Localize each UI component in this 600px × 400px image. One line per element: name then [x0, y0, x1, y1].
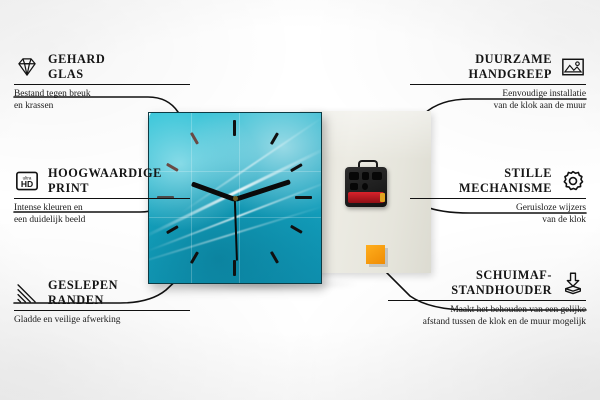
feature-title: GEHARD GLAS	[48, 52, 105, 81]
infographic-canvas: GEHARD GLAS Bestand tegen breuk en krass…	[0, 0, 600, 400]
feature-header: ultra HD HOOGWAARDIGE PRINT	[14, 166, 190, 195]
movement-detail	[362, 172, 369, 180]
feature-geslepen-randen: GESLEPEN RANDEN Gladde en veilige afwerk…	[14, 278, 190, 327]
feature-gehard-glas: GEHARD GLAS Bestand tegen breuk en krass…	[14, 52, 190, 112]
feature-subtitle: Eenvoudige installatie van de klok aan d…	[410, 89, 586, 112]
movement-body	[345, 167, 387, 207]
ultra-hd-icon: ultra HD	[14, 168, 40, 194]
feature-subtitle: Maakt het behouden van een gelijke afsta…	[388, 305, 586, 328]
clock-tick-6	[233, 260, 236, 276]
feature-divider	[388, 300, 586, 301]
clock-tick-3	[295, 196, 312, 199]
feature-subtitle: Gladde en veilige afwerking	[14, 315, 190, 326]
picture-frame-icon	[560, 54, 586, 80]
feature-subtitle: Bestand tegen breuk en krassen	[14, 89, 190, 112]
feature-divider	[410, 84, 586, 85]
feature-subtitle: Intense kleuren en een duidelijk beeld	[14, 203, 190, 226]
movement-detail	[362, 183, 368, 190]
feature-title: DUURZAME HANDGREEP	[468, 52, 552, 81]
clock-center-pin	[233, 196, 238, 201]
feature-title: HOOGWAARDIGE PRINT	[48, 166, 162, 195]
battery-terminal	[380, 193, 385, 202]
clock-movement	[345, 167, 387, 207]
svg-text:HD: HD	[21, 179, 33, 189]
feature-schuimafstandhouder: SCHUIMAF- STANDHOUDER Maakt het behouden…	[388, 268, 586, 328]
feature-divider	[14, 310, 190, 311]
feature-header: GESLEPEN RANDEN	[14, 278, 190, 307]
feature-divider	[14, 198, 190, 199]
feature-title: SCHUIMAF- STANDHOUDER	[451, 268, 552, 297]
clock-tick-12	[233, 120, 236, 136]
feature-title: GESLEPEN RANDEN	[48, 278, 118, 307]
gear-icon	[560, 168, 586, 194]
feature-header: GEHARD GLAS	[14, 52, 190, 81]
feature-title: STILLE MECHANISME	[459, 166, 552, 195]
feature-duurzame-handgreep: DUURZAME HANDGREEP Eenvoudige installati…	[410, 52, 586, 112]
feature-stille-mechanisme: STILLE MECHANISME Geruisloze wijzers van…	[410, 166, 586, 226]
beveled-edge-icon	[14, 280, 40, 306]
feature-subtitle: Geruisloze wijzers van de klok	[410, 203, 586, 226]
feature-header: STILLE MECHANISME	[410, 166, 586, 195]
diamond-icon	[14, 54, 40, 80]
feature-header: SCHUIMAF- STANDHOUDER	[388, 268, 586, 297]
feature-divider	[410, 198, 586, 199]
feature-header: DUURZAME HANDGREEP	[410, 52, 586, 81]
movement-detail	[372, 172, 382, 180]
feature-hoogwaardige-print: ultra HD HOOGWAARDIGE PRINT Intense kleu…	[14, 166, 190, 226]
feature-divider	[14, 84, 190, 85]
foam-spacer	[366, 245, 385, 264]
movement-detail	[350, 183, 358, 190]
battery	[348, 192, 384, 203]
spacer-arrow-icon	[560, 270, 586, 296]
movement-detail	[349, 172, 359, 180]
